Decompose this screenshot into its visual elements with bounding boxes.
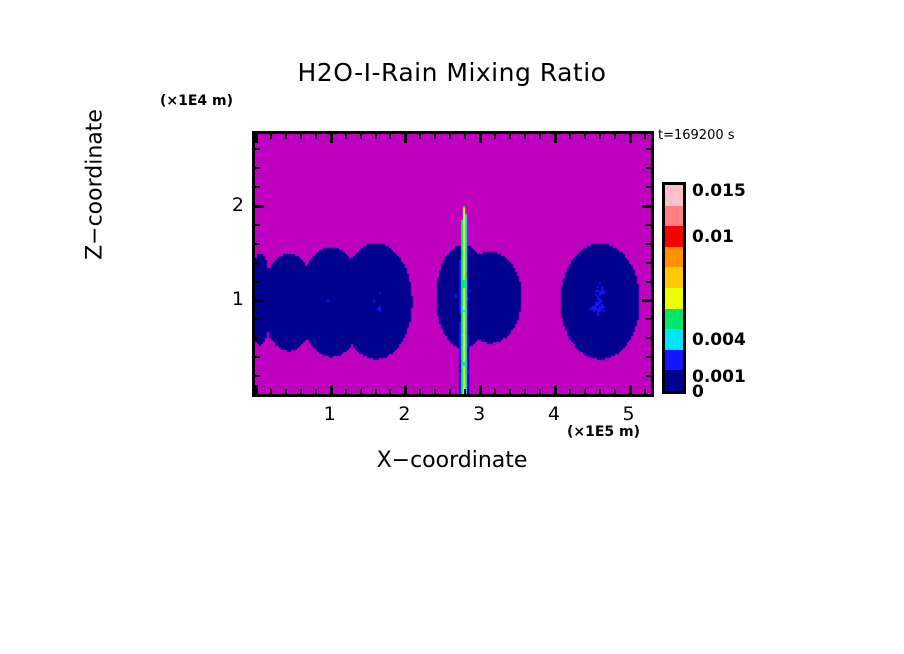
axis-tick <box>404 385 407 394</box>
axis-tick <box>255 299 264 302</box>
axis-tick <box>255 224 260 226</box>
axis-tick <box>419 134 421 139</box>
axis-tick <box>642 205 651 208</box>
timestamp-annotation: t=169200 s <box>658 128 735 143</box>
y-tick-label: 2 <box>222 194 244 216</box>
x-tick-label: 5 <box>623 403 635 425</box>
axis-tick <box>554 385 557 394</box>
axis-tick <box>646 262 651 264</box>
axis-tick <box>255 385 258 394</box>
axis-tick <box>389 134 391 139</box>
axis-tick <box>434 134 436 139</box>
axis-tick <box>255 167 260 169</box>
axis-tick <box>330 134 333 143</box>
colorbar-band <box>665 185 683 206</box>
axis-tick <box>389 389 391 394</box>
axis-tick <box>464 134 466 139</box>
x-tick-label: 2 <box>398 403 410 425</box>
colorbar-band <box>665 288 683 309</box>
axis-tick <box>646 148 651 150</box>
axis-tick <box>255 134 258 143</box>
axis-tick <box>494 134 496 139</box>
x-tick-label: 4 <box>548 403 560 425</box>
axis-tick <box>345 134 347 139</box>
axis-tick <box>345 389 347 394</box>
axis-tick <box>584 134 586 139</box>
axis-tick <box>315 134 317 139</box>
colorbar-band <box>665 267 683 288</box>
axis-tick <box>629 134 632 143</box>
heatmap-plot-area <box>252 131 654 397</box>
axis-tick <box>255 337 260 339</box>
axis-tick <box>629 385 632 394</box>
y-tick-label: 1 <box>222 288 244 310</box>
axis-tick <box>330 385 333 394</box>
axis-tick <box>539 134 541 139</box>
colorbar-band <box>665 226 683 247</box>
axis-tick <box>300 389 302 394</box>
axis-tick <box>255 281 260 283</box>
axis-tick <box>434 389 436 394</box>
axis-tick <box>646 167 651 169</box>
axis-tick <box>255 205 264 208</box>
axis-tick <box>255 394 264 397</box>
axis-tick <box>646 224 651 226</box>
axis-tick <box>464 389 466 394</box>
axis-tick <box>524 389 526 394</box>
chart-title: H2O-I-Rain Mixing Ratio <box>0 58 904 87</box>
axis-tick <box>509 134 511 139</box>
colorbar-tick-label: 0.004 <box>692 330 746 350</box>
rain-mixing-ratio-field <box>255 134 651 394</box>
axis-tick <box>554 134 557 143</box>
chart-title-text: H2O-I-Rain Mixing Ratio <box>298 58 607 87</box>
axis-tick <box>360 134 362 139</box>
colorbar-band <box>665 329 683 350</box>
axis-tick <box>375 134 377 139</box>
axis-tick <box>644 134 646 139</box>
colorbar-tick-label: 0.015 <box>692 181 746 201</box>
axis-tick <box>539 389 541 394</box>
colorbar-band <box>665 309 683 330</box>
colorbar-tick-label: 0 <box>692 382 704 402</box>
axis-tick <box>255 356 260 358</box>
axis-tick <box>494 389 496 394</box>
axis-tick <box>419 389 421 394</box>
axis-tick <box>569 134 571 139</box>
axis-tick <box>646 281 651 283</box>
axis-tick <box>300 134 302 139</box>
axis-tick <box>509 389 511 394</box>
axis-tick <box>646 186 651 188</box>
axis-tick <box>270 389 272 394</box>
axis-tick <box>614 134 616 139</box>
axis-tick <box>449 134 451 139</box>
axis-tick <box>285 134 287 139</box>
axis-tick <box>479 385 482 394</box>
axis-tick <box>375 389 377 394</box>
axis-tick <box>315 389 317 394</box>
x-axis-unit-label: (×1E5 m) <box>567 424 640 440</box>
axis-tick <box>255 318 260 320</box>
axis-tick <box>255 186 260 188</box>
axis-tick <box>646 243 651 245</box>
axis-tick <box>360 389 362 394</box>
colorbar-band <box>665 370 683 391</box>
axis-tick <box>642 299 651 302</box>
axis-tick <box>599 134 601 139</box>
axis-tick <box>642 394 651 397</box>
axis-tick <box>404 134 407 143</box>
colorbar-band <box>665 206 683 227</box>
axis-tick <box>599 389 601 394</box>
axis-tick <box>270 134 272 139</box>
x-axis-title: X−coordinate <box>0 448 904 473</box>
axis-tick <box>255 148 260 150</box>
x-tick-label: 1 <box>324 403 336 425</box>
colorbar-band <box>665 247 683 268</box>
colorbar-band <box>665 350 683 371</box>
axis-tick <box>255 262 260 264</box>
axis-tick <box>646 337 651 339</box>
axis-tick <box>524 134 526 139</box>
axis-tick <box>255 375 260 377</box>
axis-tick <box>285 389 287 394</box>
z-axis-unit-label: (×1E4 m) <box>160 93 233 109</box>
axis-tick <box>569 389 571 394</box>
axis-tick <box>479 134 482 143</box>
colorbar-tick-label: 0.01 <box>692 227 734 247</box>
axis-tick <box>584 389 586 394</box>
axis-tick <box>646 318 651 320</box>
axis-tick <box>614 389 616 394</box>
colorbar <box>662 182 686 394</box>
axis-tick <box>449 389 451 394</box>
x-tick-label: 3 <box>473 403 485 425</box>
axis-tick <box>646 375 651 377</box>
axis-tick <box>255 243 260 245</box>
axis-tick <box>646 356 651 358</box>
y-axis-title: Z−coordinate <box>83 15 108 355</box>
